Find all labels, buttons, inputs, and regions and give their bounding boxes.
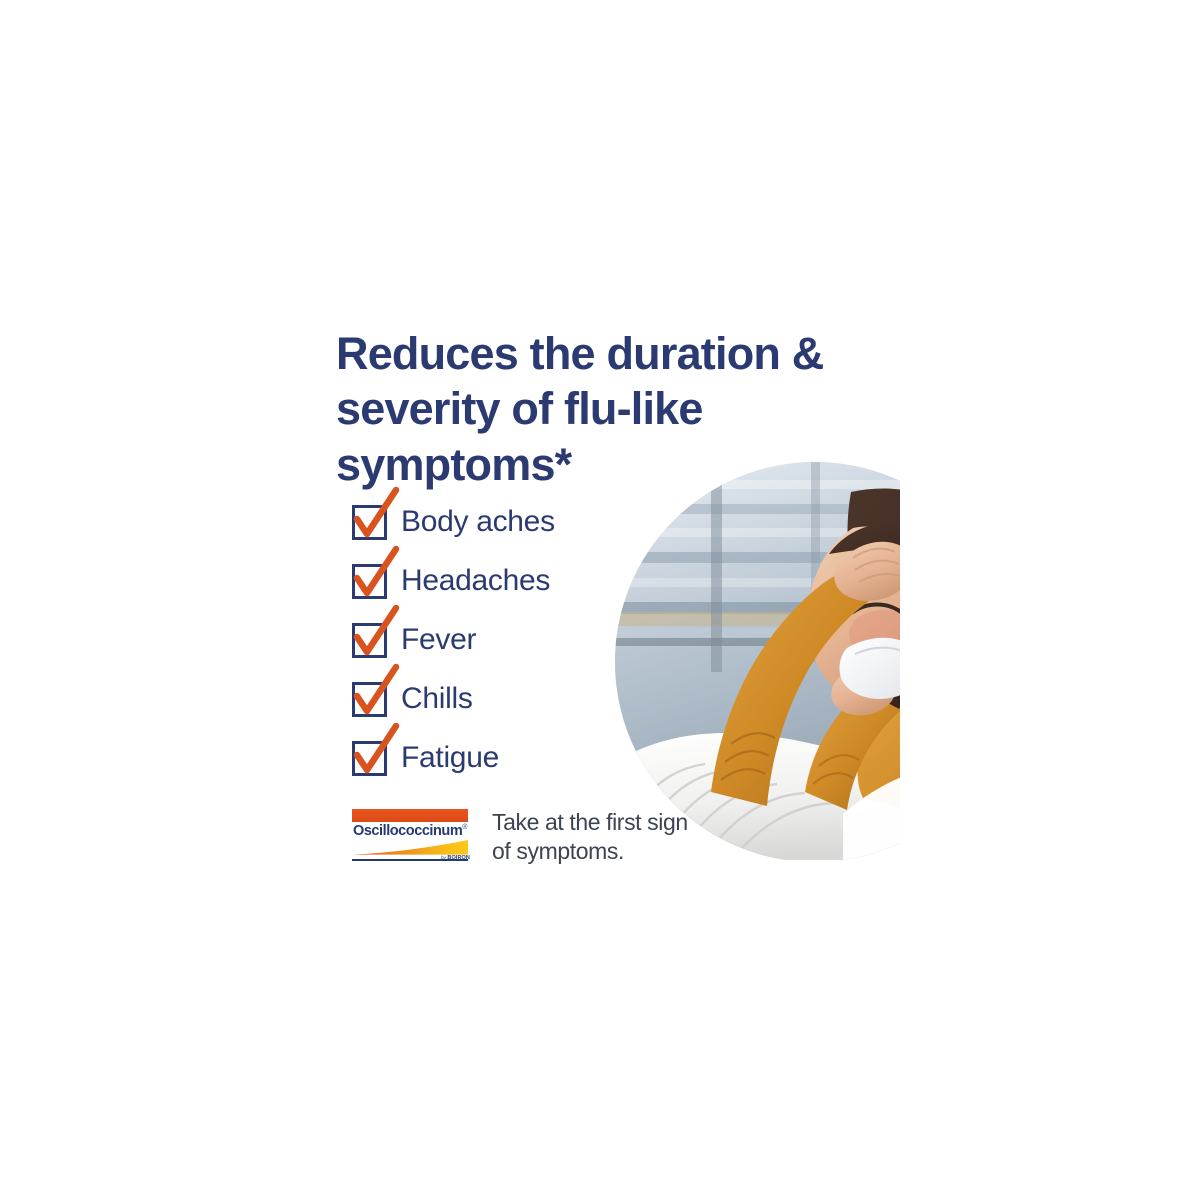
- checkmark-icon: [349, 724, 403, 780]
- checkmark-icon: [349, 547, 403, 603]
- logo-wordmark: Oscillococcinum®: [346, 823, 474, 839]
- sick-woman-illustration: [615, 462, 900, 860]
- list-item-label: Fatigue: [401, 743, 499, 773]
- tagline-line-2: of symptoms.: [492, 837, 688, 866]
- list-item[interactable]: Body aches: [352, 500, 622, 544]
- list-item-label: Chills: [401, 684, 473, 714]
- symptom-checklist: Body aches Headaches Fever: [352, 500, 622, 780]
- headline-line-1: Reduces the duration &: [336, 326, 896, 381]
- infographic-canvas: Reduces the duration & severity of flu-l…: [0, 0, 1200, 1200]
- tagline: Take at the first sign of symptoms.: [492, 806, 688, 866]
- logo-byline-brand: BOIRON: [447, 855, 470, 861]
- checkbox-checked-icon[interactable]: [352, 505, 387, 540]
- hero-photo-clip: [600, 440, 900, 860]
- oscillococcinum-logo[interactable]: Oscillococcinum® by BOIRON: [344, 806, 476, 866]
- checkbox-checked-icon[interactable]: [352, 741, 387, 776]
- hero-photo: [615, 462, 900, 860]
- logo-byline: by BOIRON: [441, 855, 470, 861]
- list-item[interactable]: Headaches: [352, 559, 622, 603]
- checkmark-icon: [349, 665, 403, 721]
- checkbox-checked-icon[interactable]: [352, 682, 387, 717]
- logo-swoosh-icon: [352, 840, 468, 855]
- list-item-label: Body aches: [401, 507, 555, 537]
- headline-line-2: severity of flu-like: [336, 381, 896, 436]
- logo-trademark-symbol: ®: [462, 824, 467, 831]
- logo-top-band: [352, 809, 468, 822]
- checkbox-checked-icon[interactable]: [352, 564, 387, 599]
- brand-footer: Oscillococcinum® by BOIRON Take at the f…: [344, 806, 688, 866]
- list-item-label: Fever: [401, 625, 476, 655]
- checkbox-checked-icon[interactable]: [352, 623, 387, 658]
- checkmark-icon: [349, 488, 403, 544]
- tagline-line-1: Take at the first sign: [492, 808, 688, 837]
- list-item[interactable]: Fatigue: [352, 736, 622, 780]
- checkmark-icon: [349, 606, 403, 662]
- list-item[interactable]: Fever: [352, 618, 622, 662]
- logo-wordmark-text: Oscillococcinum: [353, 823, 462, 839]
- list-item[interactable]: Chills: [352, 677, 622, 721]
- list-item-label: Headaches: [401, 566, 550, 596]
